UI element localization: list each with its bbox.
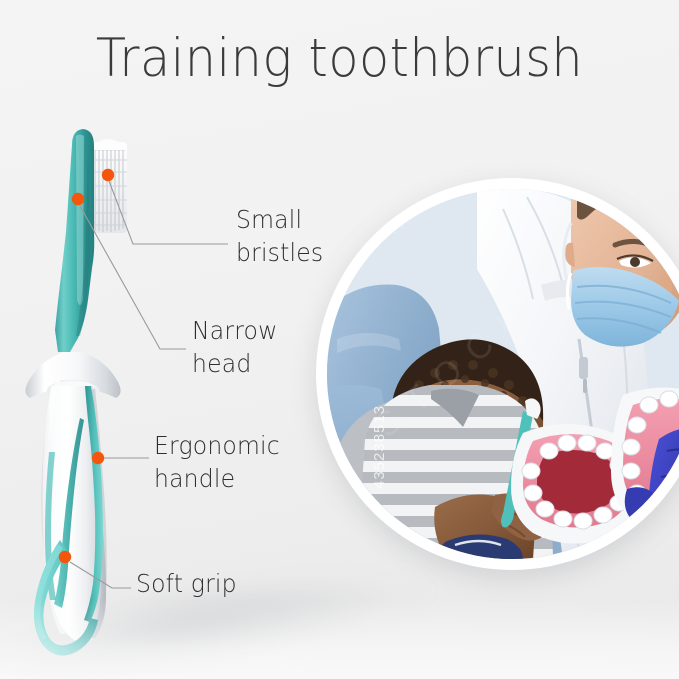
brush-collar (25, 352, 120, 399)
callout-label-narrow-head: Narrow head (192, 315, 278, 380)
product-infographic: Training toothbrush (0, 0, 679, 679)
callout-label-small-bristles: Small bristles (236, 204, 323, 269)
dot-small-bristles (102, 169, 114, 181)
leader-line-narrow-head (80, 206, 186, 349)
callout-label-ergonomic-handle: Ergonomic handle (154, 430, 280, 495)
dentist-photo: ALAMY STOCK 435238513 (327, 189, 679, 559)
bottom-fade (0, 600, 679, 679)
photo-watermark-id: 435238513 (371, 405, 388, 489)
callout-label-soft-grip: Soft grip (136, 568, 237, 601)
callout-dots (59, 169, 114, 563)
brush-handle (41, 386, 106, 642)
dot-narrow-head (72, 193, 84, 205)
brush-soft-grip-loop (34, 540, 98, 656)
leader-line-soft-grip (70, 562, 131, 588)
dot-ergonomic-handle (92, 452, 104, 464)
leader-line-small-bristles (109, 181, 228, 244)
brush-grip-stripes (45, 386, 103, 622)
photo-illustration: ALAMY STOCK (327, 189, 679, 559)
dot-soft-grip (59, 551, 71, 563)
page-title: Training toothbrush (24, 28, 655, 89)
brush-bristles (91, 139, 127, 233)
brush-head (55, 129, 94, 352)
dentist-head (564, 189, 679, 347)
